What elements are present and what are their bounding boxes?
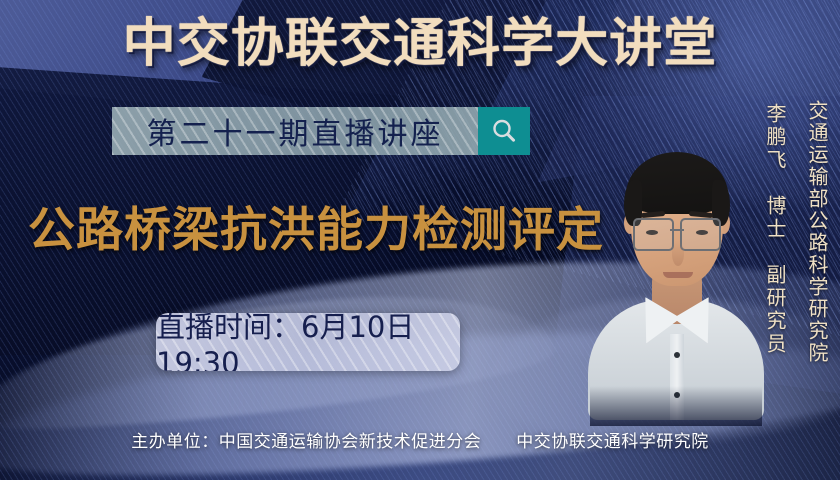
portrait-bottom-fade xyxy=(590,386,762,426)
speaker-portrait xyxy=(590,120,762,420)
session-banner-body: 第二十一期直播讲座 xyxy=(112,107,478,155)
search-icon xyxy=(489,116,519,146)
page-title: 中交协联交通科学大讲堂 xyxy=(0,14,840,74)
webinar-poster: 中交协联交通科学大讲堂 第二十一期直播讲座 公路桥梁抗洪能力检测评定 直播时间：… xyxy=(0,0,840,480)
session-banner-label: 第二十一期直播讲座 xyxy=(147,109,444,153)
footer: 主办单位：中国交通运输协会新技术促进分会 中交协联交通科学研究院 xyxy=(0,427,840,452)
search-button[interactable] xyxy=(478,107,530,155)
portrait-glasses-bridge xyxy=(670,229,684,231)
live-time-badge: 直播时间：6月10日19:30 xyxy=(156,313,460,371)
portrait-nose xyxy=(672,242,684,266)
portrait-shirt-button xyxy=(674,352,680,358)
portrait-mouth xyxy=(663,272,693,278)
portrait-lens-left xyxy=(633,218,674,251)
speaker-organization: 交通运输部公路科学研究院 xyxy=(803,100,832,364)
speaker-name-title: 李鹏飞 博士 副研究员 xyxy=(761,103,790,356)
session-banner: 第二十一期直播讲座 xyxy=(112,107,530,155)
lecture-headline: 公路桥梁抗洪能力检测评定 xyxy=(28,200,604,262)
portrait-lens-right xyxy=(680,218,721,251)
footer-organizers: 主办单位：中国交通运输协会新技术促进分会 中交协联交通科学研究院 xyxy=(131,432,709,452)
live-time-label: 直播时间：6月10日19:30 xyxy=(156,313,460,371)
